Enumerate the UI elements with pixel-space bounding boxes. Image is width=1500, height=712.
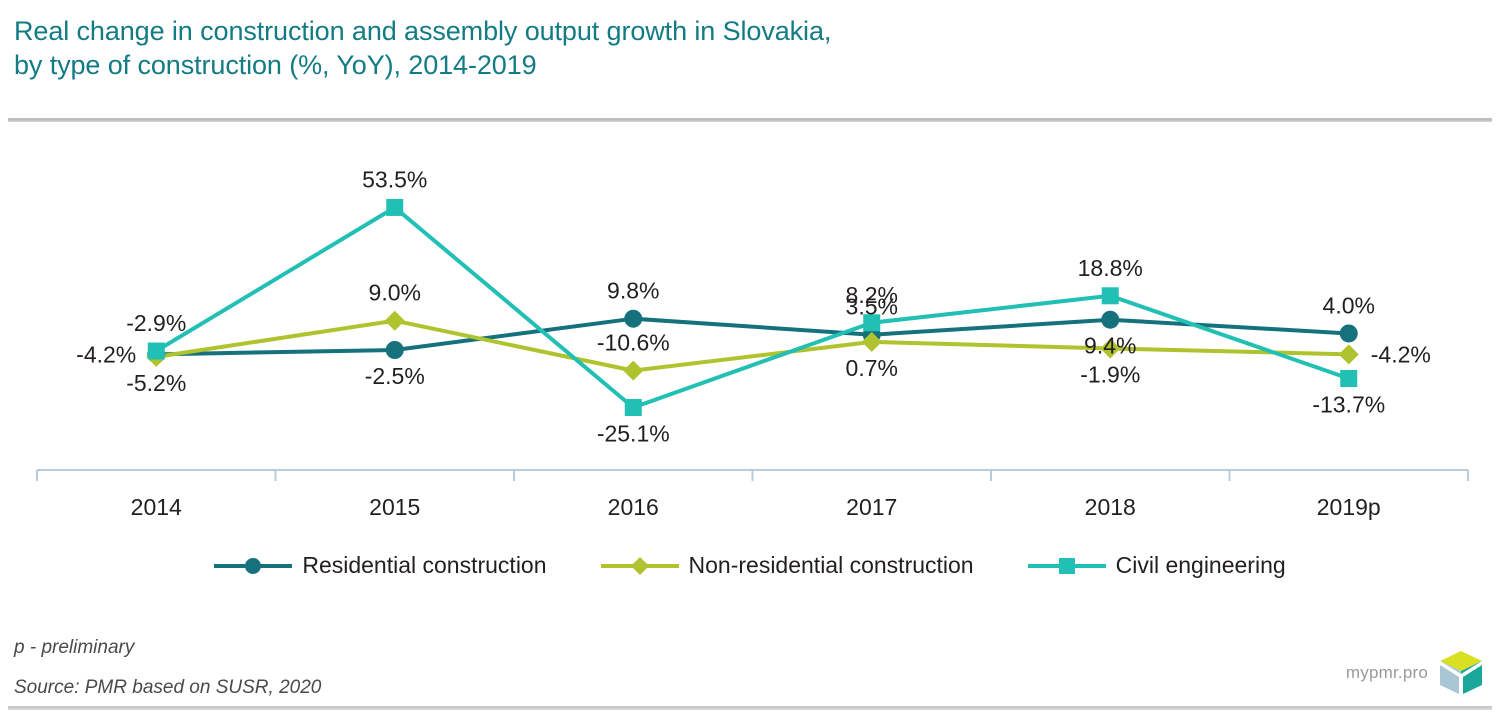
pmr-cube-icon bbox=[1436, 648, 1486, 698]
data-point-marker bbox=[1339, 344, 1359, 364]
data-label: -2.5% bbox=[365, 363, 425, 389]
x-axis-label: 2018 bbox=[1085, 494, 1136, 520]
legend-item-civil-engineering[interactable]: Civil engineering bbox=[1028, 552, 1286, 579]
chart-plot-area: 201420152016201720182019p-4.2%-2.5%9.8%3… bbox=[0, 130, 1500, 530]
legend-label-residential: Residential construction bbox=[302, 552, 546, 579]
data-point-marker bbox=[148, 343, 165, 360]
line-chart-svg: 201420152016201720182019p-4.2%-2.5%9.8%3… bbox=[0, 130, 1500, 530]
data-point-marker bbox=[386, 341, 404, 359]
footnote-preliminary: p - preliminary bbox=[14, 637, 134, 659]
data-point-marker bbox=[385, 311, 405, 331]
data-label: 0.7% bbox=[846, 355, 898, 381]
data-label: -25.1% bbox=[597, 421, 670, 447]
data-point-marker bbox=[386, 199, 403, 216]
data-point-marker bbox=[624, 310, 642, 328]
data-point-marker bbox=[625, 399, 642, 416]
legend-marker-square-icon bbox=[1028, 556, 1106, 576]
x-axis-label: 2014 bbox=[131, 494, 182, 520]
x-axis-label: 2015 bbox=[369, 494, 420, 520]
data-point-marker bbox=[1101, 311, 1119, 329]
data-label: 9.4% bbox=[1084, 333, 1136, 359]
data-label: -4.2% bbox=[1371, 341, 1431, 367]
title-divider bbox=[8, 118, 1492, 122]
data-point-marker bbox=[623, 361, 643, 381]
data-label: 9.8% bbox=[607, 278, 659, 304]
data-point-marker bbox=[1340, 370, 1357, 387]
data-label: 53.5% bbox=[362, 166, 427, 192]
data-label: 18.8% bbox=[1078, 255, 1143, 281]
chart-legend: Residential construction Non-residential… bbox=[0, 552, 1500, 579]
data-label: 9.0% bbox=[369, 280, 421, 306]
chart-title: Real change in construction and assembly… bbox=[14, 14, 1414, 82]
series-line-2 bbox=[156, 207, 1349, 407]
legend-item-residential[interactable]: Residential construction bbox=[214, 552, 546, 579]
data-label: 8.2% bbox=[846, 282, 898, 308]
data-point-marker bbox=[1102, 287, 1119, 304]
bottom-divider bbox=[8, 706, 1492, 710]
x-axis-label: 2017 bbox=[846, 494, 897, 520]
chart-page: Real change in construction and assembly… bbox=[0, 0, 1500, 712]
x-axis-label: 2016 bbox=[608, 494, 659, 520]
data-label: 4.0% bbox=[1323, 292, 1375, 318]
page-title-line-1: Real change in construction and assembly… bbox=[14, 14, 1414, 48]
legend-item-non-residential[interactable]: Non-residential construction bbox=[601, 552, 974, 579]
page-title-line-2: by type of construction (%, YoY), 2014-2… bbox=[14, 48, 1414, 82]
logo-text: mypmr.pro bbox=[1346, 663, 1428, 683]
footnote-source: Source: PMR based on SUSR, 2020 bbox=[14, 677, 321, 699]
data-label: -13.7% bbox=[1312, 392, 1385, 418]
data-label: -1.9% bbox=[1080, 361, 1140, 387]
legend-marker-diamond-icon bbox=[601, 556, 679, 576]
data-label: -10.6% bbox=[597, 330, 670, 356]
x-axis-label: 2019p bbox=[1317, 494, 1381, 520]
legend-label-non-residential: Non-residential construction bbox=[689, 552, 974, 579]
data-label: -2.9% bbox=[126, 310, 186, 336]
logo: mypmr.pro bbox=[1346, 648, 1486, 698]
legend-marker-circle-icon bbox=[214, 556, 292, 576]
data-label: -5.2% bbox=[126, 370, 186, 396]
data-label: -4.2% bbox=[76, 341, 136, 367]
data-point-marker bbox=[1340, 324, 1358, 342]
legend-label-civil-engineering: Civil engineering bbox=[1116, 552, 1286, 579]
